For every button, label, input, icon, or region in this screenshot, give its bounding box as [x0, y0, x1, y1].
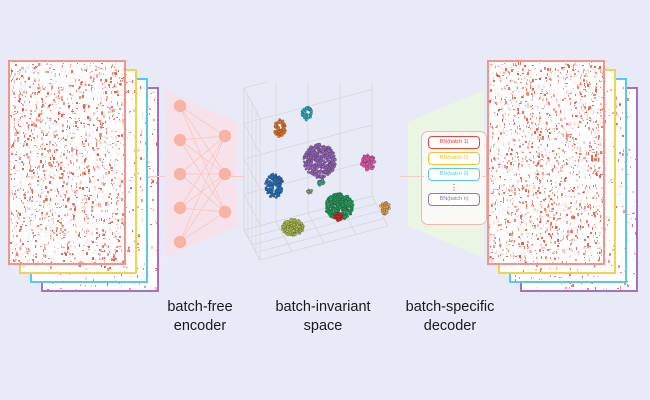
data-point	[280, 190, 283, 193]
data-point	[303, 156, 305, 158]
data-point	[324, 171, 327, 174]
data-point	[305, 109, 307, 111]
data-point	[304, 163, 307, 166]
data-point	[327, 205, 330, 208]
data-point	[269, 191, 271, 193]
data-point	[266, 180, 268, 182]
data-point	[275, 133, 277, 135]
data-point	[381, 202, 383, 204]
data-point	[335, 213, 337, 215]
connector-encoder-to-latent	[228, 176, 244, 177]
batch-norm-layer-n[interactable]: BN(batch n)	[428, 193, 480, 206]
data-point	[320, 160, 322, 162]
data-point	[276, 179, 278, 181]
cluster-cluster-pink	[360, 154, 376, 171]
data-point	[371, 164, 373, 166]
data-point	[266, 192, 268, 194]
data-point	[308, 149, 310, 151]
data-point	[311, 172, 314, 175]
data-point	[333, 166, 335, 168]
data-point	[277, 182, 279, 184]
data-point	[336, 208, 338, 210]
data-point	[277, 190, 280, 193]
data-point	[271, 176, 274, 179]
cluster-cluster-grey-sliver	[306, 189, 313, 195]
data-point	[287, 233, 290, 236]
data-point	[334, 193, 337, 196]
data-point	[345, 200, 348, 203]
data-point	[290, 219, 293, 222]
data-point	[328, 172, 330, 174]
data-point	[315, 145, 317, 147]
data-point	[320, 169, 322, 171]
data-point	[295, 233, 297, 235]
matrix-heatmap	[489, 62, 603, 263]
matrix-heatmap	[10, 62, 124, 263]
data-point	[339, 206, 342, 209]
network-node	[174, 202, 186, 214]
encoder-network	[163, 88, 243, 260]
network-node	[219, 168, 231, 180]
data-point	[324, 146, 327, 149]
data-point	[291, 227, 293, 229]
data-point	[337, 203, 340, 206]
data-point	[305, 107, 307, 109]
data-point	[341, 198, 343, 200]
data-point	[328, 167, 330, 169]
batch-norm-layer-3[interactable]: BN(batch 3)	[428, 168, 480, 181]
data-point	[313, 168, 315, 170]
data-point	[317, 154, 319, 156]
data-point	[381, 210, 383, 212]
data-point	[319, 144, 321, 146]
data-point	[305, 157, 307, 159]
data-point	[344, 215, 347, 218]
data-point	[326, 209, 329, 212]
data-point	[364, 159, 367, 162]
data-point	[361, 161, 363, 163]
data-point	[338, 200, 340, 202]
data-point	[350, 207, 352, 209]
data-point	[279, 120, 282, 123]
data-point	[324, 157, 327, 160]
data-point	[283, 126, 285, 128]
data-point	[334, 217, 336, 219]
cluster-cluster-teal-small	[317, 178, 325, 186]
batch-norm-container: BN(batch 1) BN(batch 2) BN(batch 3) ⋮ BN…	[421, 131, 487, 225]
data-point	[337, 195, 339, 197]
data-point	[283, 226, 285, 228]
data-point	[327, 159, 329, 161]
data-point	[322, 181, 324, 183]
data-point	[350, 212, 352, 214]
data-point	[309, 156, 311, 158]
data-point	[332, 194, 334, 196]
data-point	[327, 150, 330, 153]
caption-latent-space: batch-invariant space	[265, 298, 381, 336]
data-point	[351, 209, 353, 211]
data-point	[278, 130, 280, 132]
data-point	[385, 202, 387, 204]
caption-decoder: batch-specific decoder	[392, 298, 508, 336]
network-node	[219, 130, 231, 142]
data-point	[330, 153, 332, 155]
data-point	[309, 146, 311, 148]
cluster-cluster-blue	[264, 173, 284, 199]
data-point	[366, 169, 368, 171]
data-point	[342, 195, 344, 197]
data-point	[313, 165, 316, 168]
data-point	[310, 110, 312, 112]
figure-canvas: BN(batch 1) BN(batch 2) BN(batch 3) ⋮ BN…	[0, 0, 650, 400]
data-point	[329, 196, 332, 199]
data-point	[344, 212, 346, 214]
data-point	[311, 161, 313, 163]
data-point	[283, 229, 285, 231]
cluster-cluster-olive	[281, 218, 304, 236]
data-point	[331, 216, 333, 218]
data-point	[266, 187, 268, 189]
data-point	[348, 209, 350, 211]
data-point	[268, 185, 270, 187]
data-point	[383, 211, 385, 213]
caption-encoder: batch-free encoder	[145, 298, 255, 336]
input-matrix-stack	[8, 60, 168, 285]
data-point	[296, 224, 298, 226]
data-point	[306, 113, 308, 115]
scatter-3d	[238, 82, 406, 270]
data-point	[297, 219, 300, 222]
vertical-ellipsis-icon: ⋮	[450, 184, 458, 191]
data-point	[334, 158, 337, 161]
data-point	[321, 146, 323, 148]
data-point	[290, 222, 292, 224]
data-point	[326, 200, 329, 203]
data-point	[317, 175, 319, 177]
data-point	[386, 205, 389, 208]
data-point	[331, 158, 334, 161]
network-node	[174, 134, 186, 146]
data-point	[341, 203, 344, 206]
matrix-sheet	[487, 60, 605, 265]
data-point	[322, 152, 325, 155]
data-point	[272, 194, 275, 197]
cluster-cluster-orange	[274, 118, 287, 137]
data-point	[293, 223, 296, 226]
data-point	[368, 156, 370, 158]
data-point	[295, 228, 298, 231]
data-point	[366, 163, 369, 166]
data-point	[279, 186, 282, 189]
batch-norm-layer-2[interactable]: BN(batch 2)	[428, 152, 480, 165]
data-point	[308, 117, 310, 119]
grid-line-floor	[252, 211, 380, 245]
data-point	[311, 159, 313, 161]
data-point	[310, 190, 312, 192]
data-point	[332, 205, 334, 207]
data-point	[302, 227, 304, 229]
network-node	[174, 236, 186, 248]
output-matrix-stack	[487, 60, 647, 285]
data-point	[264, 182, 266, 184]
data-point	[316, 167, 319, 170]
data-point	[313, 148, 315, 150]
data-point	[309, 115, 311, 117]
data-point	[340, 197, 342, 199]
data-point	[346, 215, 349, 218]
data-point	[277, 135, 280, 138]
data-point	[274, 124, 277, 127]
data-point	[349, 200, 351, 202]
network-node	[174, 100, 186, 112]
data-point	[338, 215, 341, 218]
data-point	[372, 161, 375, 164]
data-point	[385, 209, 388, 212]
data-point	[315, 173, 318, 176]
data-point	[317, 148, 319, 150]
data-point	[287, 226, 289, 228]
data-point	[321, 166, 323, 168]
data-point	[371, 167, 374, 170]
data-point	[325, 161, 327, 163]
data-point	[340, 194, 342, 196]
data-point	[364, 155, 366, 157]
data-point	[382, 208, 384, 210]
data-point	[270, 195, 273, 198]
data-point	[275, 173, 277, 175]
encoder-panel	[163, 88, 243, 260]
data-point	[316, 159, 318, 161]
network-node	[174, 168, 186, 180]
data-point	[301, 109, 303, 111]
data-point	[327, 146, 330, 149]
data-point	[317, 152, 319, 154]
data-point	[309, 107, 311, 109]
matrix-sheet	[8, 60, 126, 265]
data-point	[328, 213, 331, 216]
data-point	[370, 158, 373, 161]
data-point	[301, 113, 303, 115]
data-point	[278, 177, 281, 180]
data-point	[307, 152, 309, 154]
data-point	[305, 115, 307, 117]
data-point	[306, 165, 309, 168]
data-point	[319, 174, 322, 177]
data-point	[310, 166, 312, 168]
data-point	[317, 162, 320, 165]
data-point	[312, 157, 315, 160]
data-point	[335, 210, 338, 213]
data-point	[305, 119, 307, 121]
data-point	[308, 192, 310, 194]
data-point	[332, 200, 334, 202]
data-point	[271, 182, 274, 185]
grid-line-floor	[248, 204, 376, 238]
data-point	[284, 123, 286, 125]
network-node	[219, 206, 231, 218]
data-point	[307, 160, 309, 162]
data-point	[300, 229, 302, 231]
data-point	[285, 220, 288, 223]
data-point	[361, 158, 363, 160]
data-point	[323, 167, 325, 169]
data-point	[338, 210, 340, 212]
data-point	[307, 171, 310, 174]
data-point	[273, 175, 275, 177]
data-point	[271, 187, 273, 189]
data-point	[283, 131, 286, 134]
data-point	[331, 201, 333, 203]
data-point	[368, 160, 370, 162]
data-point	[323, 163, 325, 165]
data-point	[347, 204, 349, 206]
data-point	[308, 169, 310, 171]
data-point	[318, 181, 321, 184]
batch-norm-layer-1[interactable]: BN(batch 1)	[428, 136, 480, 149]
latent-space-plot	[238, 82, 406, 270]
data-point	[304, 153, 306, 155]
data-point	[293, 227, 295, 229]
data-point	[292, 229, 295, 232]
data-point	[331, 211, 334, 214]
data-point	[329, 165, 331, 167]
data-point	[388, 205, 390, 207]
data-point	[339, 218, 342, 221]
data-point	[325, 167, 327, 169]
data-point	[322, 148, 325, 151]
connector-latent-to-decoder	[400, 176, 424, 177]
